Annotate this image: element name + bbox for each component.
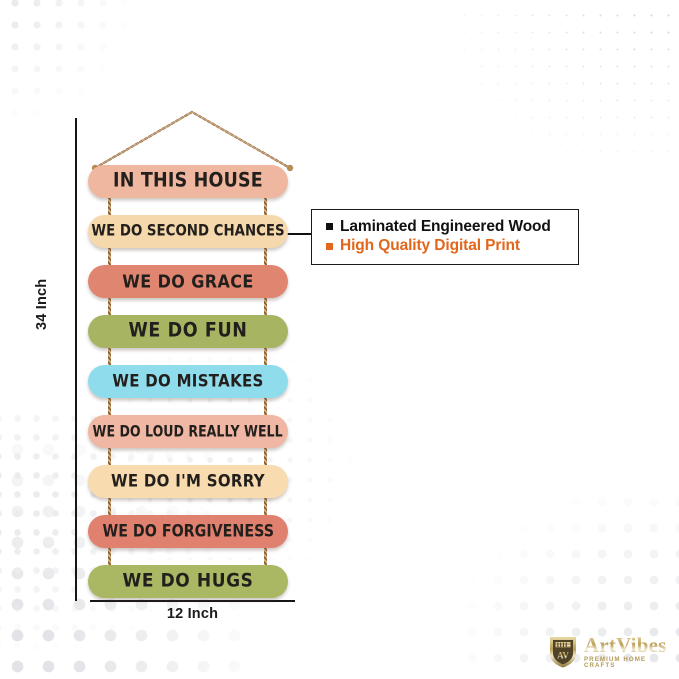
plank-5: WE DO MISTAKES: [88, 365, 288, 398]
plank-9: WE DO HUGS: [88, 565, 288, 598]
plank-text: WE DO FORGIVENESS: [102, 523, 273, 540]
plank-row: WE DO FUN: [88, 315, 288, 365]
legend-item-wood: Laminated Engineered Wood: [326, 217, 568, 236]
plank-text: WE DO MISTAKES: [112, 373, 263, 390]
halftone-dots-top-right: [439, 0, 679, 180]
plank-row: WE DO HUGS: [88, 565, 288, 615]
legend-bullet-square-icon: [326, 223, 333, 230]
logo-monogram: AV: [557, 651, 569, 661]
brand-logo: AV ArtVibes PREMIUM HOME CRAFTS: [548, 632, 670, 672]
plank-6: WE DO LOUD REALLY WELL: [88, 415, 288, 448]
plank-text: WE DO HUGS: [123, 572, 254, 591]
height-measure-line: [75, 118, 77, 601]
logo-wordmark: ArtVibes PREMIUM HOME CRAFTS: [584, 635, 670, 669]
plank-text: WE DO SECOND CHANCES: [91, 223, 284, 239]
materials-legend: Laminated Engineered Wood High Quality D…: [311, 209, 579, 265]
brand-tagline: PREMIUM HOME CRAFTS: [584, 657, 670, 669]
halftone-dots-top-left: [0, 0, 130, 120]
plank-row: WE DO FORGIVENESS: [88, 515, 288, 565]
plank-text: WE DO GRACE: [122, 273, 254, 291]
plank-4: WE DO FUN: [88, 315, 288, 348]
legend-item-label: Laminated Engineered Wood: [340, 217, 551, 236]
product-image-canvas: 34 Inch 12 Inch IN THIS HOUSEWE DO SECON…: [0, 0, 679, 679]
height-dimension-label: 34 Inch: [34, 279, 50, 330]
plank-1: IN THIS HOUSE: [88, 165, 288, 198]
plank-text: IN THIS HOUSE: [113, 172, 263, 192]
plank-8: WE DO FORGIVENESS: [88, 515, 288, 548]
plank-2: WE DO SECOND CHANCES: [88, 215, 288, 248]
plank-text: WE DO LOUD REALLY WELL: [93, 424, 283, 440]
plank-row: WE DO MISTAKES: [88, 365, 288, 415]
plank-stack: IN THIS HOUSEWE DO SECOND CHANCESWE DO G…: [88, 165, 288, 615]
legend-item-print: High Quality Digital Print: [326, 236, 568, 255]
shield-crest-icon: AV: [548, 635, 578, 669]
plank-text: WE DO FUN: [128, 322, 247, 342]
plank-row: WE DO GRACE: [88, 265, 288, 315]
rope-hanger-icon: [85, 106, 300, 172]
brand-name: ArtVibes: [584, 635, 670, 656]
plank-row: WE DO LOUD REALLY WELL: [88, 415, 288, 465]
plank-row: WE DO I'M SORRY: [88, 465, 288, 515]
plank-3: WE DO GRACE: [88, 265, 288, 298]
legend-bullet-square-icon: [326, 243, 333, 250]
legend-item-label: High Quality Digital Print: [340, 236, 520, 255]
plank-text: WE DO I'M SORRY: [111, 473, 265, 490]
plank-row: WE DO SECOND CHANCES: [88, 215, 288, 265]
plank-row: IN THIS HOUSE: [88, 165, 288, 215]
plank-7: WE DO I'M SORRY: [88, 465, 288, 498]
